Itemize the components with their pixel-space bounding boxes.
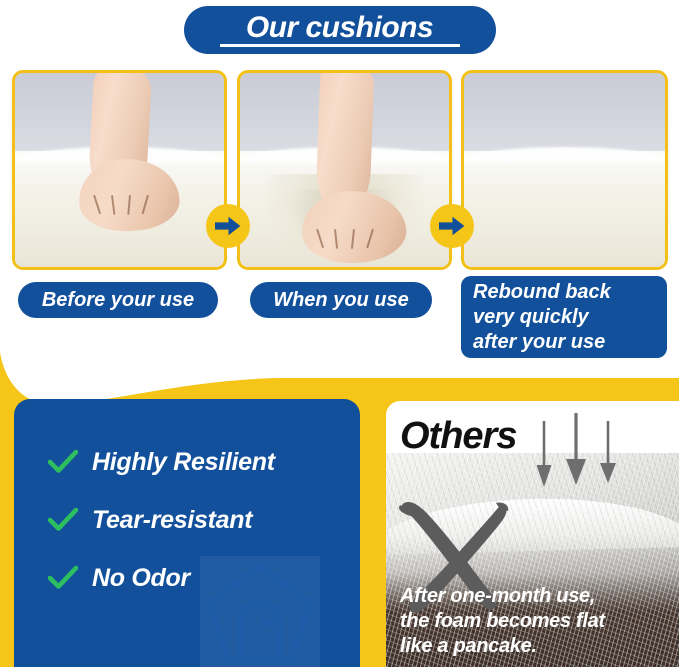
step-arrow-1 [206,204,250,248]
arrow-down-icon [534,413,659,499]
photo-when-you-use [240,73,449,267]
others-caption-line-2: the foam becomes flat [400,609,671,634]
header: Our cushions [0,6,679,54]
caption-rebound-line-2: very quickly [473,305,657,330]
step-photo-after [461,70,668,270]
caption-before-use: Before your use [18,282,218,318]
feature-item-highly-resilient: Highly Resilient [48,433,348,491]
caption-when-you-use: When you use [250,282,432,318]
feature-label: Highly Resilient [92,448,275,477]
others-caption-line-1: After one-month use, [400,584,671,609]
arrow-right-icon [439,216,465,236]
knuckle-lines [89,195,167,221]
photo-before-use [15,73,224,267]
check-icon [48,565,78,591]
feature-label: No Odor [92,564,190,593]
foam-body [464,186,665,267]
step-photo-before [12,70,227,270]
knuckle-lines [312,229,392,255]
features-panel: Highly Resilient Tear-resistant No Odor [14,399,360,667]
page-title: Our cushions [214,12,466,44]
arrow-right-icon [215,216,241,236]
feature-item-no-odor: No Odor [48,549,348,607]
others-comparison-card: Others After one-month use, the foam [386,401,679,667]
title-underline [220,44,460,47]
step-panels [0,70,679,270]
caption-rebound-line-1: Rebound back [473,280,657,305]
check-icon [48,507,78,533]
feature-list: Highly Resilient Tear-resistant No Odor [48,433,348,607]
feature-item-tear-resistant: Tear-resistant [48,491,348,549]
pressure-arrows [534,413,659,504]
header-pill: Our cushions [184,6,496,54]
photo-rebounded-foam [464,73,665,267]
others-title: Others [400,415,516,458]
feature-label: Tear-resistant [92,506,252,535]
others-caption: After one-month use, the foam becomes fl… [400,584,671,659]
step-photo-during [237,70,452,270]
others-caption-line-3: like a pancake. [400,634,671,659]
check-icon [48,449,78,475]
step-arrow-2 [430,204,474,248]
photo-background-wall [464,73,665,158]
